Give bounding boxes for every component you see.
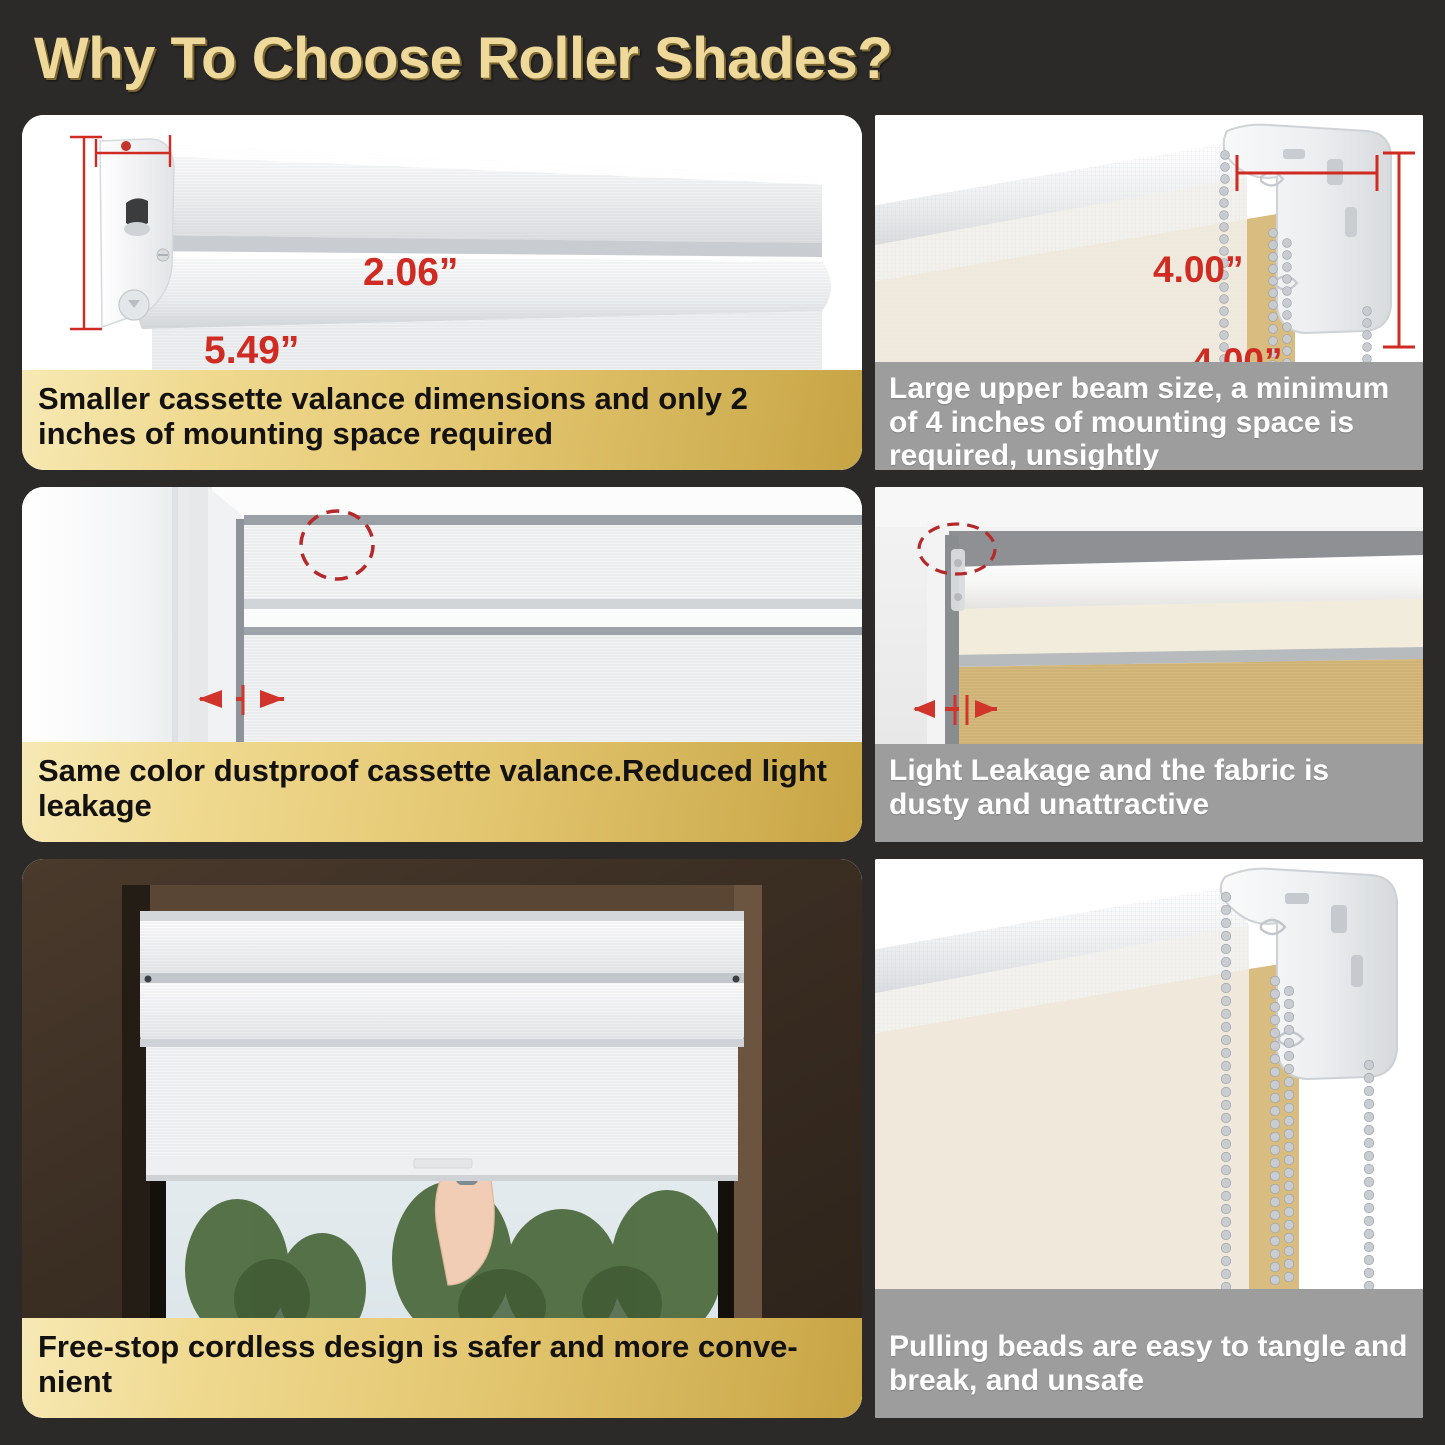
- panel-caption: Smaller cassette valance dimensions and …: [22, 370, 862, 470]
- panel-caption: Same color dustproof cassette valance.Re…: [22, 742, 862, 842]
- pulling-beads-illustration: [875, 859, 1423, 1320]
- beam-width-dimension-label: 4.00”: [1153, 249, 1244, 291]
- smaller-gap-illustration: [22, 487, 862, 742]
- window-scene-illustration: [22, 859, 862, 1318]
- infographic-root: Why To Choose Roller Shades?: [0, 0, 1445, 1445]
- upper-beam-illustration: [875, 115, 1423, 365]
- panel-caption: Large upper beam size, a minimum of 4 in…: [875, 362, 1423, 470]
- panel-caption: Free-stop cordless design is safer and m…: [22, 1318, 862, 1418]
- panel-caption: Light Leakage and the fabric is dusty an…: [875, 744, 1423, 842]
- width-dimension-label: 2.06”: [363, 251, 458, 295]
- panel-cassette-valance-dimensions: 5.49” 2.06” Smaller cassette valance dim…: [22, 115, 862, 470]
- panel-dustproof-cassette-valance: smaller gap Same color dustproof cassett…: [22, 487, 862, 842]
- panel-free-stop-cordless-design: Free-stop cordless design is safer and m…: [22, 859, 862, 1418]
- page-title: Why To Choose Roller Shades?: [34, 24, 1034, 94]
- panel-caption: Pulling beads are easy to tangle and bre…: [875, 1320, 1423, 1418]
- height-dimension-label: 5.49”: [204, 329, 299, 373]
- large-gap-illustration: [875, 487, 1423, 745]
- panel-light-leakage-dusty-fabric: Large gap Light Leakage and the fabric i…: [875, 487, 1423, 842]
- panel-large-upper-beam: 4.00” 4.00” Large upper beam size, a min…: [875, 115, 1423, 470]
- cassette-valance-illustration: [22, 115, 862, 375]
- panel-pulling-beads-tangle: Pulling beads are easy to tangle and bre…: [875, 859, 1423, 1418]
